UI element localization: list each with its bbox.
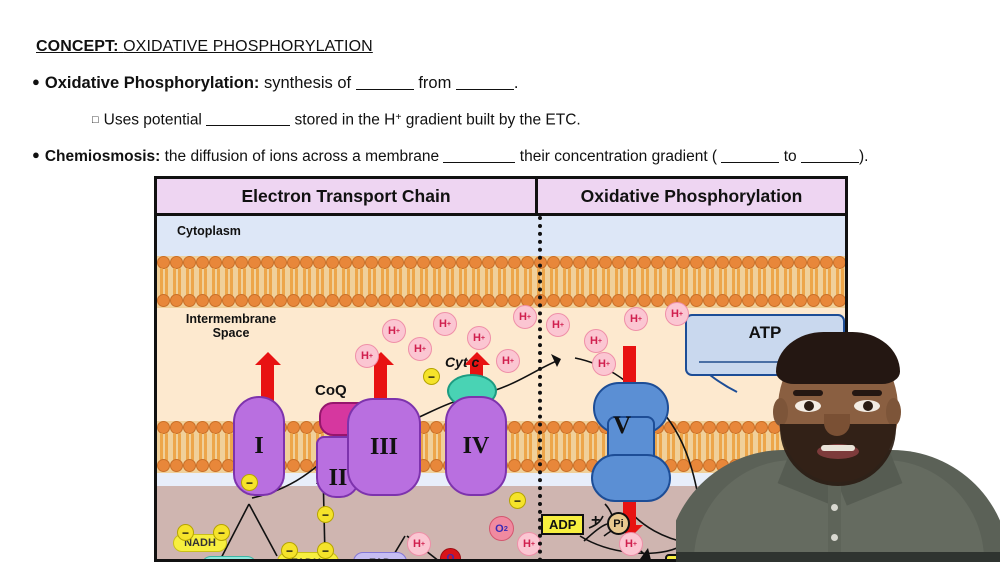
- lipid-head: [287, 459, 300, 472]
- lipid-tail: [365, 268, 378, 296]
- bullet2-text-c: to: [784, 148, 797, 165]
- lipid-head: [599, 294, 612, 307]
- lipid-head: [755, 294, 768, 307]
- nad-plus-molecule: NAD+: [201, 556, 257, 562]
- sub-bullet-superscript: +: [395, 111, 401, 123]
- complex-ii-label: II: [329, 465, 348, 492]
- lipid-tail: [313, 268, 326, 296]
- lipid-tail: [352, 268, 365, 296]
- coq-label: CoQ: [315, 382, 347, 399]
- lipid-head: [612, 294, 625, 307]
- lipid-head: [716, 294, 729, 307]
- lipid-head: [794, 294, 807, 307]
- complex-v-label: V: [613, 412, 631, 440]
- shirt-placket: [828, 482, 841, 562]
- lipid-tail: [248, 268, 261, 296]
- lipid-head: [365, 294, 378, 307]
- eyebrow-right: [852, 390, 882, 396]
- lipid-tail: [833, 268, 845, 296]
- header-oxidative-phosphorylation: Oxidative Phosphorylation: [538, 179, 845, 216]
- lipid-tail: [573, 268, 586, 296]
- lipid-head: [495, 294, 508, 307]
- electron-4: −: [509, 492, 526, 509]
- bullet1-text-b: from: [418, 74, 451, 92]
- lipid-head: [638, 294, 651, 307]
- lipid-head: [300, 459, 313, 472]
- eyebrow-left: [793, 390, 823, 396]
- fad-molecule: FAD: [353, 552, 407, 562]
- lipid-head: [768, 294, 781, 307]
- lipid-tail: [651, 268, 664, 296]
- complex-v-base[interactable]: [591, 454, 671, 502]
- lipid-head: [339, 294, 352, 307]
- lipid-tail: [716, 268, 729, 296]
- outer-membrane-bilayer: [157, 256, 845, 308]
- proton-ion-ims: H+: [467, 326, 491, 350]
- lipid-tail: [456, 268, 469, 296]
- lipid-head: [235, 294, 248, 307]
- o2-subscript: 2: [504, 524, 508, 533]
- sub-bullet-text-a: Uses potential: [104, 111, 202, 128]
- fadh2-text: FADH: [291, 557, 321, 562]
- lipid-head: [248, 294, 261, 307]
- lipid-tail: [287, 268, 300, 296]
- lipid-tail: [209, 268, 222, 296]
- lipid-head: [417, 294, 430, 307]
- lipid-head: [742, 294, 755, 307]
- lipid-tail: [729, 268, 742, 296]
- proton-ion-ims: H+: [355, 344, 379, 368]
- ear-right: [886, 398, 901, 426]
- lecture-notes-panel: CONCEPT: OXIDATIVE PHOSPHORYLATION ●Oxid…: [0, 0, 1000, 172]
- lipid-head: [313, 294, 326, 307]
- lipid-tail: [638, 268, 651, 296]
- square-bullet-icon: □: [92, 114, 99, 126]
- lipid-head: [781, 294, 794, 307]
- blank-field-3[interactable]: [206, 125, 290, 126]
- proton-ion-ims: H+: [546, 313, 570, 337]
- lipid-tail: [326, 268, 339, 296]
- lipid-tail: [664, 268, 677, 296]
- lipid-tail: [586, 433, 599, 461]
- lipid-head: [729, 294, 742, 307]
- header-electron-transport-chain: Electron Transport Chain: [157, 179, 538, 216]
- o2-text: O: [495, 523, 504, 535]
- proton-ion-ims: H+: [433, 312, 457, 336]
- lipid-head: [404, 294, 417, 307]
- lipid-head: [586, 294, 599, 307]
- lipid-tail: [170, 268, 183, 296]
- lipid-head-row-bottom: [157, 294, 845, 308]
- lipid-tail: [196, 268, 209, 296]
- sub-bullet-text-c: gradient built by the ETC.: [406, 111, 581, 128]
- blank-field-1[interactable]: [356, 89, 414, 90]
- lipid-head: [261, 294, 274, 307]
- page-title: CONCEPT: OXIDATIVE PHOSPHORYLATION: [36, 38, 373, 56]
- complex-i-label: I: [254, 433, 263, 460]
- diagram-header-row: Electron Transport Chain Oxidative Phosp…: [157, 179, 845, 216]
- term-oxidative-phosphorylation: Oxidative Phosphorylation:: [45, 74, 260, 92]
- lipid-head: [209, 294, 222, 307]
- lipid-head: [300, 294, 313, 307]
- lipid-tail: [443, 268, 456, 296]
- lipid-tail: [300, 268, 313, 296]
- lipid-head: [430, 294, 443, 307]
- lipid-tail: [469, 268, 482, 296]
- proton-ion-matrix: H+: [619, 532, 643, 556]
- lipid-tail: [781, 268, 794, 296]
- proton-ion-matrix: H+: [407, 532, 431, 556]
- lipid-tail: [209, 433, 222, 461]
- lipid-head: [625, 294, 638, 307]
- lipid-head: [352, 294, 365, 307]
- lipid-head: [547, 459, 560, 472]
- lipid-head: [157, 294, 170, 307]
- hair: [776, 332, 900, 384]
- lipid-head: [807, 294, 820, 307]
- lipid-tail: [742, 268, 755, 296]
- bullet2-text-d: ).: [859, 148, 868, 165]
- intermembrane-space-label: Intermembrane Space: [171, 312, 291, 340]
- lipid-head: [157, 459, 170, 472]
- electron-nadh-right: −: [213, 524, 230, 541]
- instructor-webcam[interactable]: [676, 332, 1000, 562]
- lipid-tail: [820, 268, 833, 296]
- concept-title: OXIDATIVE PHOSPHORYLATION: [123, 38, 373, 55]
- bullet-dot-icon: ●: [32, 74, 40, 89]
- complex-iii-label: III: [370, 434, 398, 461]
- complex-iv-label: IV: [463, 433, 490, 460]
- lipid-tail: [391, 268, 404, 296]
- cytoplasm-label: Cytoplasm: [177, 224, 241, 238]
- lipid-head: [508, 294, 521, 307]
- lipid-head: [170, 459, 183, 472]
- lipid-tail: [287, 433, 300, 461]
- lipid-head: [209, 459, 222, 472]
- lipid-head: [521, 459, 534, 472]
- lipid-head: [482, 294, 495, 307]
- proton-ion-ims: H+: [584, 329, 608, 353]
- fadh2-subscript: 2: [321, 559, 325, 562]
- lipid-head: [274, 294, 287, 307]
- lipid-tail: [157, 268, 170, 296]
- blank-field-4[interactable]: [443, 162, 515, 163]
- bullet1-text-a: synthesis of: [264, 74, 351, 92]
- lipid-tail: [768, 268, 781, 296]
- electron-2: −: [317, 506, 334, 523]
- lipid-head: [443, 294, 456, 307]
- lipid-head: [456, 294, 469, 307]
- lipid-tail: [690, 268, 703, 296]
- blank-field-5[interactable]: [721, 162, 779, 163]
- proton-ion-ims: H+: [592, 352, 616, 376]
- lipid-tail: [599, 268, 612, 296]
- lipid-head: [222, 294, 235, 307]
- lipid-head: [196, 294, 209, 307]
- lipid-head: [508, 459, 521, 472]
- lipid-tail: [274, 268, 287, 296]
- lipid-tail: [547, 268, 560, 296]
- lipid-head: [326, 294, 339, 307]
- lipid-tail: [521, 268, 534, 296]
- proton-ion-ims: H+: [408, 337, 432, 361]
- oxygen-molecule: O2: [489, 516, 514, 541]
- lipid-head: [560, 459, 573, 472]
- lipid-head: [469, 294, 482, 307]
- ear-left: [773, 398, 788, 426]
- electron-fadh-left: −: [281, 542, 298, 559]
- lipid-head: [573, 294, 586, 307]
- lipid-tail: [417, 268, 430, 296]
- lipid-head: [820, 294, 833, 307]
- lipid-head: [391, 294, 404, 307]
- lipid-tail: [378, 268, 391, 296]
- lipid-tail: [170, 433, 183, 461]
- proton-ion-ims: H+: [496, 349, 520, 373]
- water-oxygen-atom: O: [440, 548, 461, 562]
- lipid-tail: [196, 433, 209, 461]
- complex-iv[interactable]: IV: [445, 396, 507, 496]
- cytoplasm-region: [157, 216, 845, 256]
- lipid-tail: [625, 268, 638, 296]
- proton-ion-ims: H+: [624, 307, 648, 331]
- plus-sign: +: [591, 512, 600, 530]
- lipid-tail: [157, 433, 170, 461]
- lipid-tail: [222, 268, 235, 296]
- proton-ion-ims: H+: [513, 305, 537, 329]
- lipid-tail: [404, 268, 417, 296]
- lipid-head: [183, 459, 196, 472]
- lipid-tail: [508, 268, 521, 296]
- lipid-head: [287, 294, 300, 307]
- lipid-head: [560, 294, 573, 307]
- panel-divider: [538, 216, 542, 562]
- lipid-tail: [482, 268, 495, 296]
- lipid-head: [690, 294, 703, 307]
- proton-ion-ims: H+: [382, 319, 406, 343]
- webcam-bottom-strip: [676, 552, 1000, 562]
- lipid-tail: [794, 268, 807, 296]
- lipid-head: [833, 294, 845, 307]
- lipid-head: [651, 294, 664, 307]
- blank-field-6[interactable]: [801, 162, 859, 163]
- lipid-head: [196, 459, 209, 472]
- lipid-tail: [612, 268, 625, 296]
- lipid-tail: [495, 268, 508, 296]
- lipid-head: [183, 294, 196, 307]
- sub-bullet-potential-energy: □Uses potential stored in the H+ gradien…: [92, 111, 581, 129]
- lipid-tail: [807, 268, 820, 296]
- sub-bullet-text-b: stored in the H: [295, 111, 396, 128]
- lipid-tail: [677, 268, 690, 296]
- eye-left: [795, 400, 821, 412]
- bullet2-text-b: their concentration gradient (: [520, 148, 717, 165]
- lipid-tail: [573, 433, 586, 461]
- lipid-head: [703, 294, 716, 307]
- lipid-tail: [235, 268, 248, 296]
- shirt-button-1: [831, 504, 838, 511]
- water-molecule: O H H: [433, 548, 469, 562]
- lipid-tail: [560, 433, 573, 461]
- lipid-tail: [261, 268, 274, 296]
- bullet-dot-icon-2: ●: [32, 147, 40, 162]
- adp-label: ADP: [541, 514, 584, 535]
- electron-3: −: [423, 368, 440, 385]
- cyt-c-label: Cyt c: [445, 354, 479, 370]
- electron-nadh-left: −: [177, 524, 194, 541]
- electron-1: −: [241, 474, 258, 491]
- bullet1-text-c: .: [514, 74, 519, 92]
- lipid-tail: [183, 268, 196, 296]
- blank-field-2[interactable]: [456, 89, 514, 90]
- electron-fadh-right: −: [317, 542, 334, 559]
- lipid-tail-row: [157, 268, 845, 296]
- lipid-head: [378, 294, 391, 307]
- bullet-oxidative-phosphorylation: ●Oxidative Phosphorylation: synthesis of…: [32, 74, 519, 93]
- concept-label: CONCEPT:: [36, 38, 119, 55]
- lipid-tail: [430, 268, 443, 296]
- lipid-tail: [430, 433, 443, 461]
- lipid-tail: [183, 433, 196, 461]
- complex-iii[interactable]: III: [347, 398, 421, 496]
- lipid-tail: [755, 268, 768, 296]
- bullet-chemiosmosis: ●Chemiosmosis: the diffusion of ions acr…: [32, 147, 868, 166]
- term-chemiosmosis: Chemiosmosis:: [45, 148, 160, 165]
- shirt-button-2: [831, 534, 838, 541]
- lipid-tail: [339, 268, 352, 296]
- lipid-head: [547, 294, 560, 307]
- proton-ion-ims: H+: [665, 302, 689, 326]
- lipid-head: [170, 294, 183, 307]
- lipid-head: [573, 459, 586, 472]
- lipid-tail: [547, 433, 560, 461]
- lipid-tail: [300, 433, 313, 461]
- teeth: [821, 445, 855, 451]
- lipid-head: [430, 459, 443, 472]
- bullet2-text-a: the diffusion of ions across a membrane: [165, 148, 440, 165]
- lipid-tail: [586, 268, 599, 296]
- lipid-tail: [703, 268, 716, 296]
- eye-right: [854, 400, 880, 412]
- lipid-tail: [521, 433, 534, 461]
- lipid-tail: [560, 268, 573, 296]
- lipid-tail: [508, 433, 521, 461]
